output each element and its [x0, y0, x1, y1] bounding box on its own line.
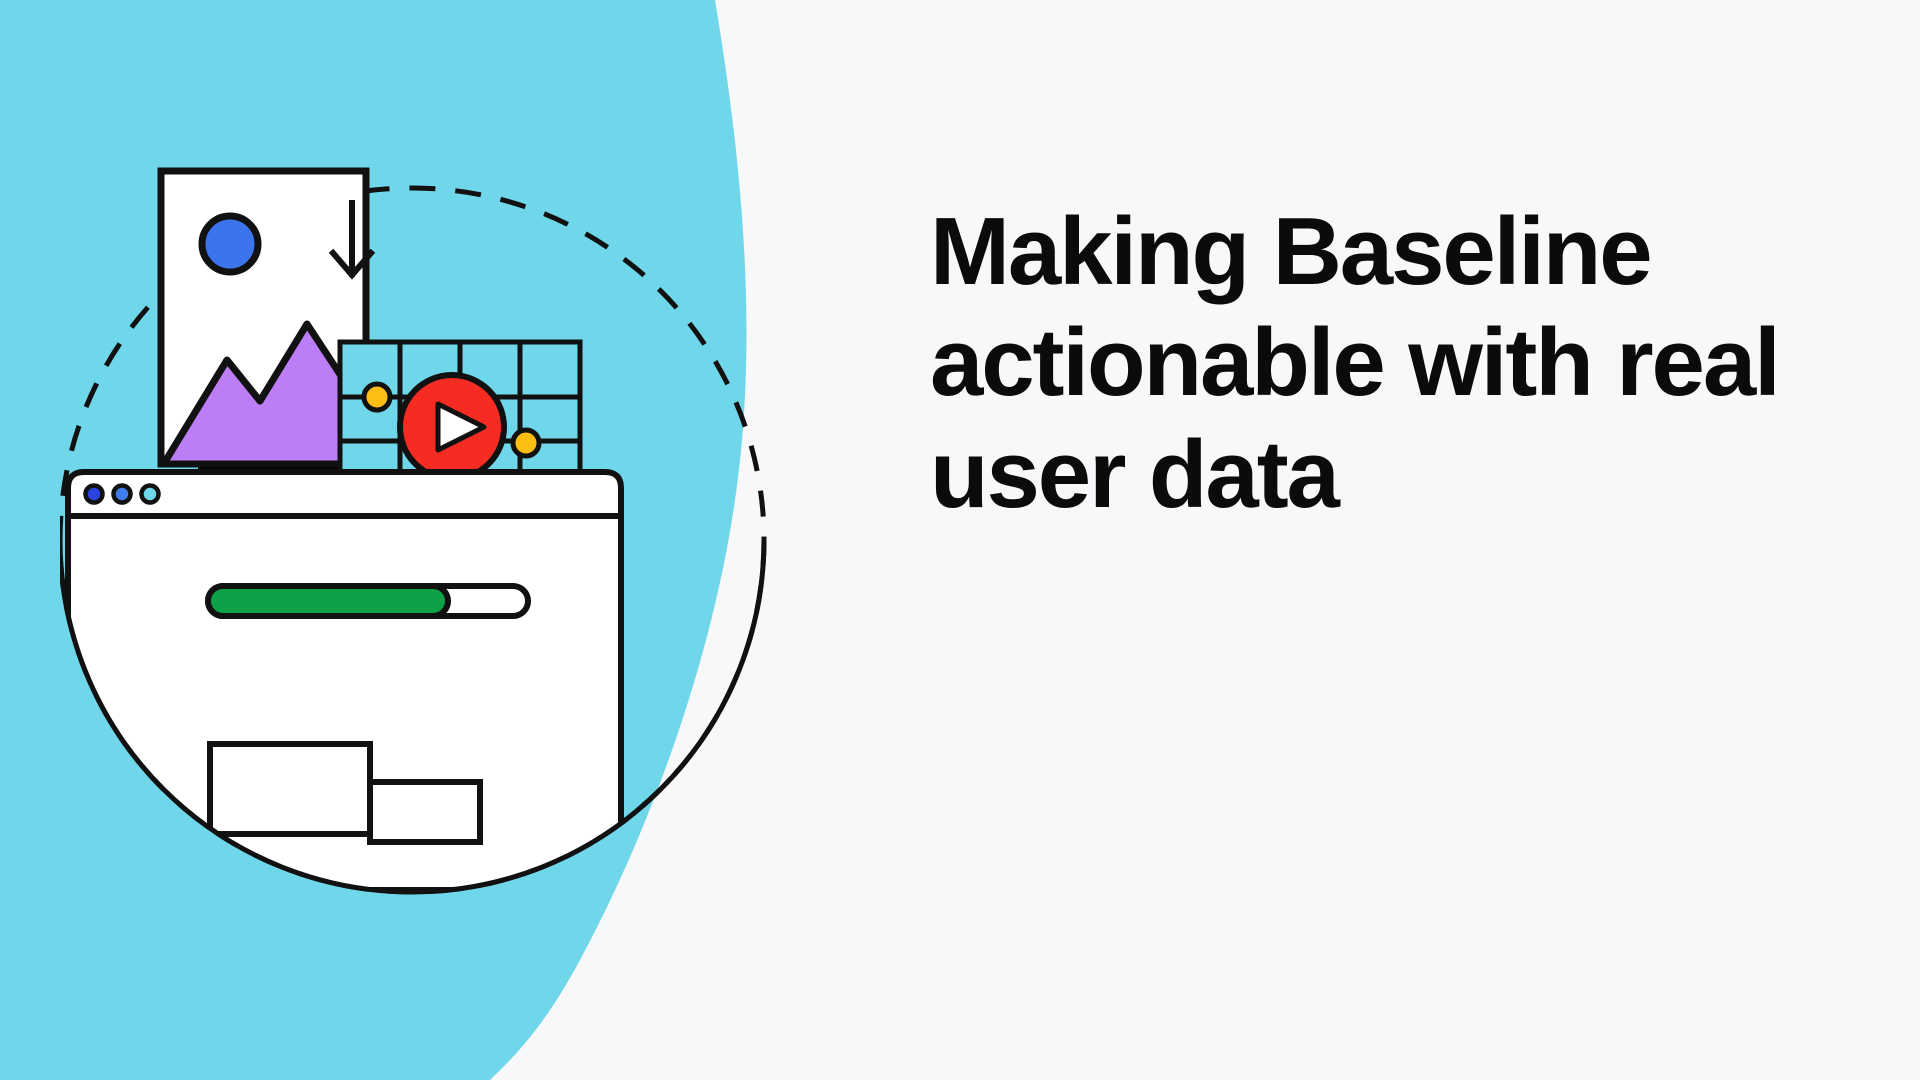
- browser-window: [68, 472, 621, 890]
- content-block-2: [370, 782, 480, 842]
- sun-circle-icon: [202, 216, 258, 272]
- browser-dot-2-icon[interactable]: [114, 486, 131, 503]
- layout-shift-dot-2-icon: [513, 430, 539, 456]
- browser-dot-3-icon[interactable]: [142, 486, 159, 503]
- content-block-1: [210, 744, 370, 834]
- page-title: Making Baseline actionable with real use…: [930, 196, 1810, 530]
- illustration: [60, 120, 820, 940]
- browser-dot-1-icon[interactable]: [86, 486, 103, 503]
- headline-block: Making Baseline actionable with real use…: [930, 196, 1810, 530]
- play-button[interactable]: [400, 375, 504, 479]
- progress-bar-fill: [208, 586, 448, 616]
- hero-banner: Making Baseline actionable with real use…: [0, 0, 1920, 1080]
- layout-shift-dot-1-icon: [364, 384, 390, 410]
